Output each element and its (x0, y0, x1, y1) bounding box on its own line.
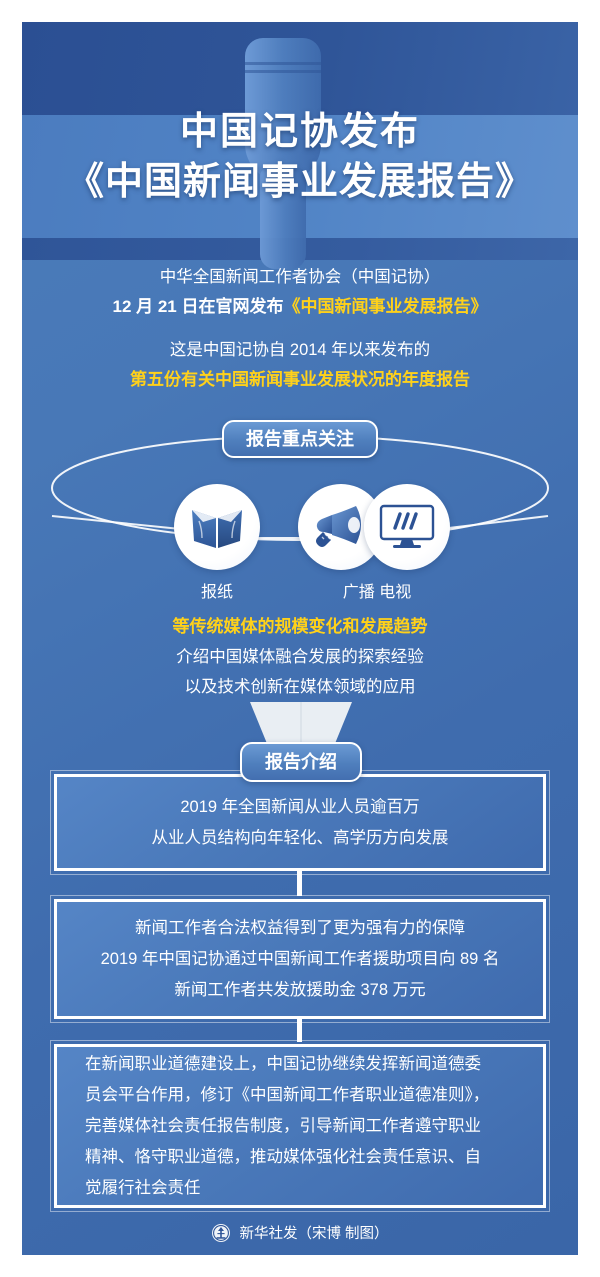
megaphone-icon (312, 501, 370, 553)
card-1-line-2: 从业人员结构向年轻化、高学历方向发展 (81, 823, 519, 854)
footer: 新华社发（宋博 制图） (22, 1222, 578, 1243)
open-book-icon (189, 501, 245, 553)
intro-line-2-highlight: 《中国新闻事业发展报告》 (284, 297, 488, 316)
card-2-line-1: 新闻工作者合法权益得到了更为强有力的保障 (81, 913, 519, 944)
focus-icon-newspaper[interactable] (174, 484, 260, 570)
ribbon-decoration (250, 702, 352, 746)
card-3-line-5: 觉履行社会责任 (85, 1173, 515, 1204)
title-line-1: 中国记协发布 (22, 108, 578, 156)
card-2-line-2: 2019 年中国记协通过中国新闻工作者援助项目向 89 名 (81, 944, 519, 975)
report-card-2: 新闻工作者合法权益得到了更为强有力的保障 2019 年中国记协通过中国新闻工作者… (50, 895, 550, 1023)
card-3-line-4: 精神、恪守职业道德，推动媒体强化社会责任意识、自 (85, 1142, 515, 1173)
title-line-2: 《中国新闻事业发展报告》 (22, 156, 578, 208)
focus-tail-highlight: 等传统媒体的规模变化和发展趋势 (22, 612, 578, 642)
card-connector-1 (297, 868, 302, 896)
intro-line-4: 第五份有关中国新闻事业发展状况的年度报告 (22, 365, 578, 395)
card-3-line-1: 在新闻职业道德建设上，中国记协继续发挥新闻道德委 (85, 1049, 515, 1080)
focus-icon-television[interactable] (364, 484, 450, 570)
focus-tail-text: 等传统媒体的规模变化和发展趋势 介绍中国媒体融合发展的探索经验 以及技术创新在媒… (22, 612, 578, 702)
intro-line-2-plain: 12 月 21 日在官网发布 (113, 297, 284, 316)
intro-line-3: 这是中国记协自 2014 年以来发布的 (22, 335, 578, 365)
focus-label-newspaper: 报纸 (157, 578, 277, 602)
report-card-3: 在新闻职业道德建设上，中国记协继续发挥新闻道德委 员会平台作用，修订《中国新闻工… (50, 1040, 550, 1212)
focus-tail-line-3: 以及技术创新在媒体领域的应用 (22, 672, 578, 702)
card-1-line-1: 2019 年全国新闻从业人员逾百万 (81, 792, 519, 823)
intro-spacer (22, 322, 578, 335)
poster-title: 中国记协发布 《中国新闻事业发展报告》 (22, 108, 578, 208)
focus-label-broadcast-tv: 广播 电视 (312, 578, 442, 602)
xinhua-logo-icon (211, 1223, 231, 1243)
card-3-line-2: 员会平台作用，修订《中国新闻工作者职业道德准则》， (85, 1080, 515, 1111)
television-icon (378, 502, 436, 552)
intro-line-1: 中华全国新闻工作者协会（中国记协） (22, 262, 578, 292)
card-2-line-3: 新闻工作者共发放援助金 378 万元 (81, 975, 519, 1006)
card-3-line-3: 完善媒体社会责任报告制度，引导新闻工作者遵守职业 (85, 1111, 515, 1142)
intro-block: 中华全国新闻工作者协会（中国记协） 12 月 21 日在官网发布《中国新闻事业发… (22, 262, 578, 395)
report-card-1: 2019 年全国新闻从业人员逾百万 从业人员结构向年轻化、高学历方向发展 (50, 770, 550, 875)
footer-credit: 新华社发（宋博 制图） (239, 1222, 388, 1243)
focus-section: 报告重点关注 (22, 418, 578, 630)
focus-pill-label[interactable]: 报告重点关注 (222, 420, 378, 458)
intro-line-2: 12 月 21 日在官网发布《中国新闻事业发展报告》 (22, 292, 578, 322)
focus-tail-line-2: 介绍中国媒体融合发展的探索经验 (22, 642, 578, 672)
report-pill-label[interactable]: 报告介绍 (240, 742, 362, 782)
infographic-poster: 中国记协发布 《中国新闻事业发展报告》 中华全国新闻工作者协会（中国记协） 12… (0, 0, 600, 1277)
card-connector-2 (297, 1016, 302, 1042)
